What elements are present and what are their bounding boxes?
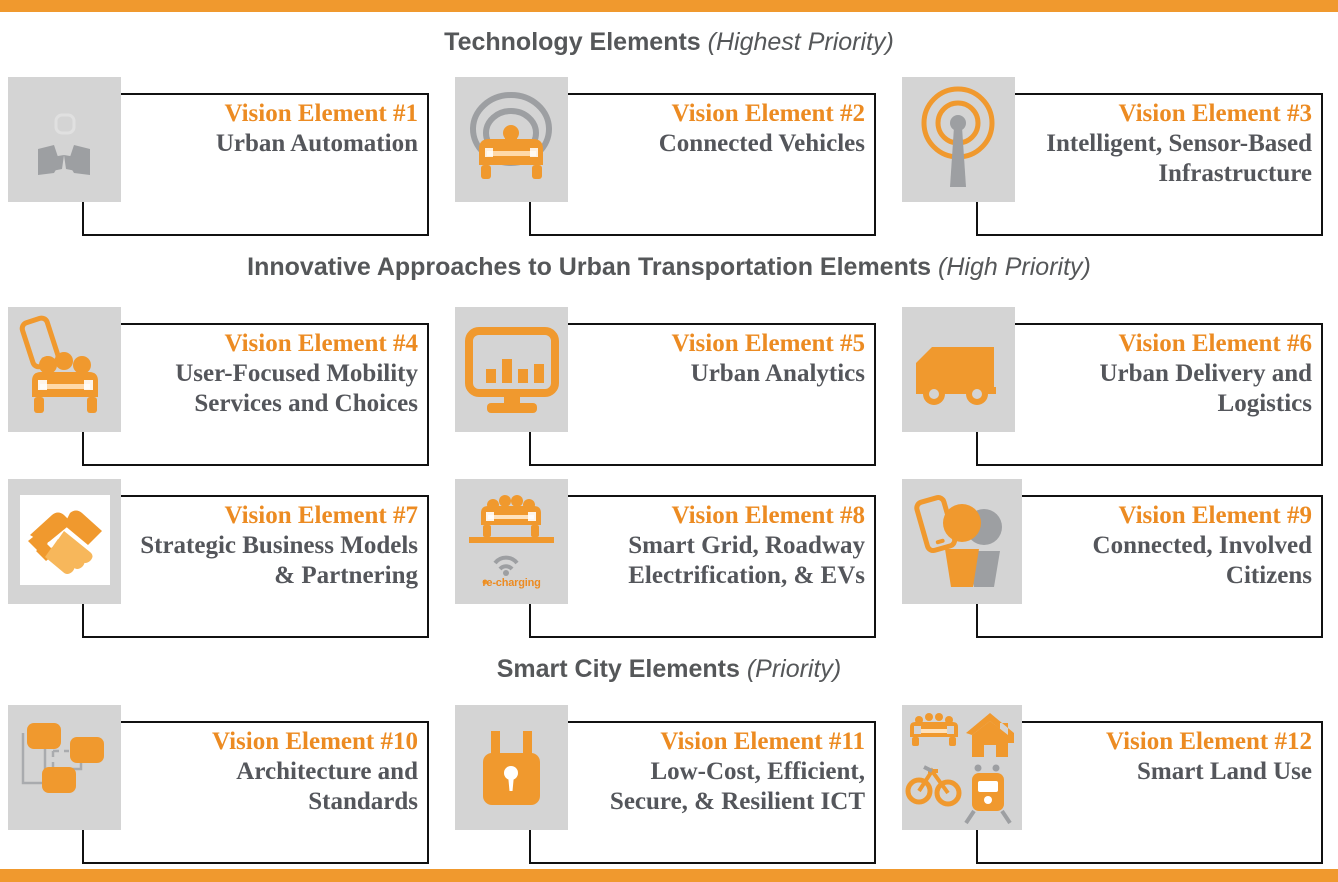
land-use-mix-icon — [902, 705, 1022, 830]
card-labels: Vision Element #6 Urban Delivery and Log… — [1022, 329, 1312, 419]
hands-off-wheel-icon — [8, 77, 121, 202]
vision-element-card-6[interactable]: Vision Element #6 Urban Delivery and Log… — [894, 307, 1324, 467]
section-title: Technology Elements — [444, 28, 701, 56]
train-glyph — [966, 765, 1010, 824]
vision-element-card-7[interactable]: Vision Element #7 Strategic Business Mod… — [0, 479, 430, 639]
card-labels: Vision Element #4 User-Focused Mobility … — [128, 329, 418, 419]
delivery-truck-icon — [902, 307, 1015, 432]
card-title: User-Focused Mobility Services and Choic… — [128, 359, 418, 419]
card-title: Urban Automation — [128, 129, 418, 159]
vision-element-card-11[interactable]: Vision Element #11 Low-Cost, Efficient, … — [447, 705, 877, 865]
vision-element-card-9[interactable]: Vision Element #9 Connected, Involved Ci… — [894, 479, 1324, 639]
ev-recharging-icon: re-charging — [455, 479, 568, 604]
card-title: Connected Vehicles — [575, 129, 865, 159]
vision-element-card-5[interactable]: Vision Element #5 Urban Analytics — [447, 307, 877, 467]
section-priority: (Highest Priority) — [708, 28, 894, 56]
card-labels: Vision Element #11 Low-Cost, Efficient, … — [575, 727, 865, 817]
vision-element-card-1[interactable]: Vision Element #1 Urban Automation — [0, 77, 430, 237]
section-title: Smart City Elements — [497, 655, 740, 683]
section-priority: (High Priority) — [938, 253, 1091, 281]
card-number: Vision Element #10 — [128, 727, 418, 757]
card-number: Vision Element #12 — [1022, 727, 1312, 757]
section-heading-innovative-approaches: Innovative Approaches to Urban Transport… — [0, 252, 1338, 282]
card-number: Vision Element #11 — [575, 727, 865, 757]
padlock-icon — [455, 705, 568, 830]
card-labels: Vision Element #2 Connected Vehicles — [575, 99, 865, 159]
phone-transit-riders-icon — [8, 307, 121, 432]
section-heading-smart-city: Smart City Elements (Priority) — [0, 654, 1338, 684]
vision-element-card-10[interactable]: Vision Element #10 Architecture and Stan… — [0, 705, 430, 865]
card-labels: Vision Element #10 Architecture and Stan… — [128, 727, 418, 817]
recharging-caption: re-charging — [455, 577, 568, 589]
card-title: Architecture and Standards — [128, 757, 418, 817]
card-number: Vision Element #4 — [128, 329, 418, 359]
section-title: Innovative Approaches to Urban Transport… — [247, 253, 931, 281]
vision-element-card-8[interactable]: re-charging Vision Element #8 Smart Grid… — [447, 479, 877, 639]
architecture-nodes-icon — [8, 705, 121, 830]
vision-element-card-12[interactable]: Vision Element #12 Smart Land Use — [894, 705, 1324, 865]
card-labels: Vision Element #3 Intelligent, Sensor-Ba… — [1022, 99, 1312, 189]
section-heading-technology: Technology Elements (Highest Priority) — [0, 27, 1338, 57]
card-number: Vision Element #7 — [128, 501, 418, 531]
card-number: Vision Element #1 — [128, 99, 418, 129]
card-labels: Vision Element #1 Urban Automation — [128, 99, 418, 159]
vision-element-card-3[interactable]: Vision Element #3 Intelligent, Sensor-Ba… — [894, 77, 1324, 237]
card-title: Connected, Involved Citizens — [1022, 531, 1312, 591]
card-title: Intelligent, Sensor-Based Infrastructure — [1022, 129, 1312, 189]
bottom-orange-rule — [0, 869, 1338, 882]
card-title: Urban Analytics — [575, 359, 865, 389]
sensor-antenna-icon — [902, 77, 1015, 202]
card-labels: Vision Element #12 Smart Land Use — [1022, 727, 1312, 787]
vision-element-card-4[interactable]: Vision Element #4 User-Focused Mobility … — [0, 307, 430, 467]
section-priority: (Priority) — [747, 655, 841, 683]
card-labels: Vision Element #8 Smart Grid, Roadway El… — [575, 501, 865, 591]
vision-element-card-2[interactable]: Vision Element #2 Connected Vehicles — [447, 77, 877, 237]
handshake-icon — [8, 479, 121, 604]
poster-canvas: Technology Elements (Highest Priority) I… — [0, 0, 1338, 882]
card-number: Vision Element #5 — [575, 329, 865, 359]
card-number: Vision Element #8 — [575, 501, 865, 531]
card-labels: Vision Element #9 Connected, Involved Ci… — [1022, 501, 1312, 591]
bus-glyph — [910, 713, 958, 746]
card-number: Vision Element #6 — [1022, 329, 1312, 359]
card-title: Smart Land Use — [1022, 757, 1312, 787]
card-number: Vision Element #3 — [1022, 99, 1312, 129]
card-labels: Vision Element #7 Strategic Business Mod… — [128, 501, 418, 591]
card-labels: Vision Element #5 Urban Analytics — [575, 329, 865, 389]
bicycle-glyph — [908, 767, 959, 804]
card-title: Low-Cost, Efficient, Secure, & Resilient… — [575, 757, 865, 817]
card-title: Strategic Business Models & Partnering — [128, 531, 418, 591]
phone-citizens-icon — [902, 479, 1022, 604]
connected-vehicle-icon — [455, 77, 568, 202]
card-title: Smart Grid, Roadway Electrification, & E… — [575, 531, 865, 591]
monitor-bar-chart-icon — [455, 307, 568, 432]
card-number: Vision Element #2 — [575, 99, 865, 129]
top-orange-rule — [0, 0, 1338, 12]
card-number: Vision Element #9 — [1022, 501, 1312, 531]
card-title: Urban Delivery and Logistics — [1022, 359, 1312, 419]
